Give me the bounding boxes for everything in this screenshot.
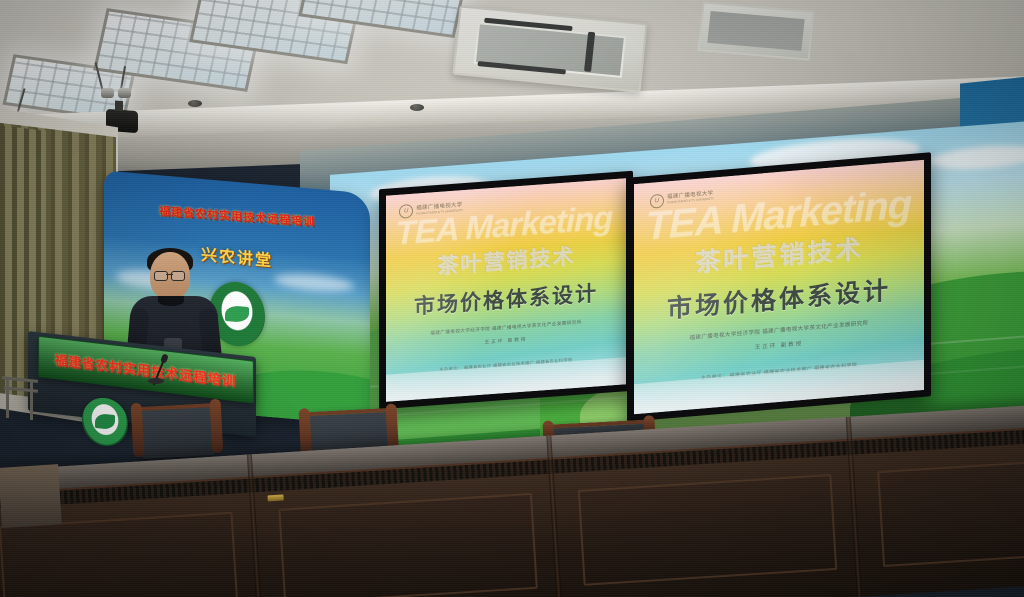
backdrop-arc-title: 福建省农村实用技术远程培训 [104,199,370,234]
university-logo-text: 福建广播电视大学 FUJIAN RADIO & TV UNIVERSITY [416,203,463,215]
eyeglasses-icon [154,271,185,279]
table-panel-inset [278,493,538,597]
slide-content-left: U 福建广播电视大学 FUJIAN RADIO & TV UNIVERSITY … [386,178,626,402]
air-conditioner-vent-secondary [697,1,814,60]
stage-railing [0,378,40,424]
university-emblem-icon: U [399,204,413,219]
smoke-detector [188,100,202,107]
table-panel-inset [877,461,1024,567]
floor [0,464,62,528]
projection-screen-left[interactable]: U 福建广播电视大学 FUJIAN RADIO & TV UNIVERSITY … [379,171,633,410]
ac-grille [707,11,804,51]
microphone-base [148,378,164,384]
table-nameplate [267,494,283,501]
smoke-detector [410,104,424,111]
slide-content-right: U 福建广播电视大学 FUJIAN RADIO & TV UNIVERSITY … [634,160,924,414]
photo-scene: 福建省农村实用技术远程培训 兴农讲堂 U 福建广播电视大学 FUJIAN RAD… [0,0,1024,597]
university-emblem-icon: U [650,193,664,208]
person-collar [158,296,184,306]
projection-screen-right[interactable]: U 福建广播电视大学 FUJIAN RADIO & TV UNIVERSITY … [627,152,931,422]
table-panel-inset [578,474,838,586]
slide-subtitle: 市场价格体系设计 [386,275,626,323]
executive-chair [137,403,217,455]
university-logo-text: 福建广播电视大学 FUJIAN RADIO & TV UNIVERSITY [667,191,714,204]
